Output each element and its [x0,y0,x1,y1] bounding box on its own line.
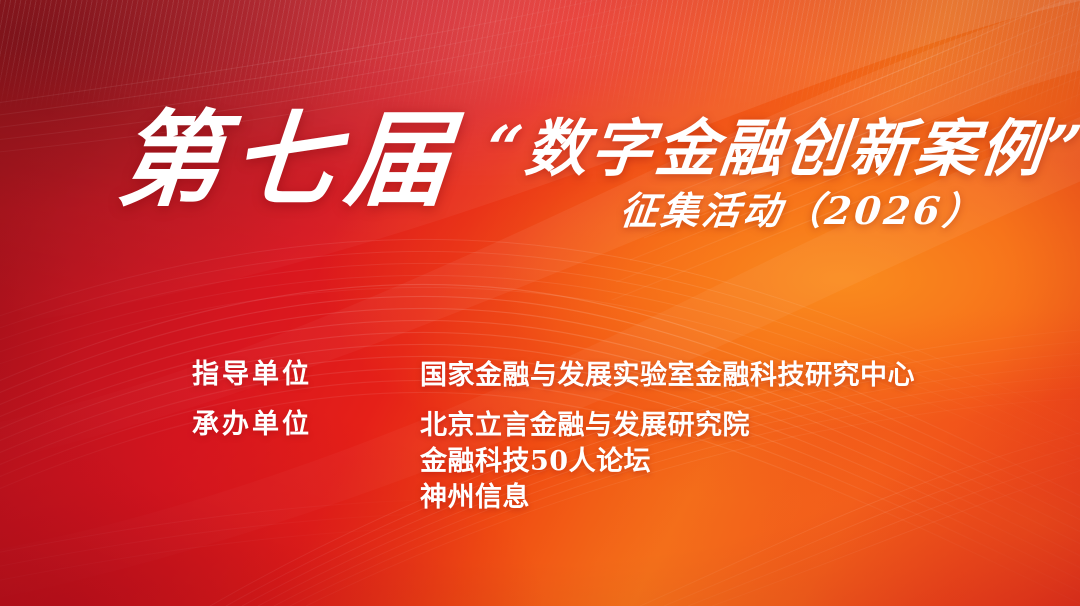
poster-canvas: 第七届 “数字金融创新案例” 征集活动（2026） 指导单位 国家金融与发展实验… [0,0,1080,606]
background-diagonal-hatch-band [0,0,1080,112]
credit-row-organizers: 承办单位 北京立言金融与发展研究院 金融科技50人论坛 神州信息 [192,408,1022,516]
headline-edition: 第七届 [113,108,464,212]
credit-values-guidance: 国家金融与发展实验室金融科技研究中心 [420,358,1022,394]
headline-subtitle-year: 征集活动（2026） [618,192,986,230]
credit-label-organizers: 承办单位 [192,408,420,441]
credit-values-organizers: 北京立言金融与发展研究院 金融科技50人论坛 神州信息 [420,408,1022,516]
credits-block: 指导单位 国家金融与发展实验室金融科技研究中心 承办单位 北京立言金融与发展研究… [192,358,1022,530]
credit-organization: 神州信息 [420,480,1022,516]
credit-organization: 北京立言金融与发展研究院 [420,408,1022,444]
credit-organization: 国家金融与发展实验室金融科技研究中心 [420,358,1022,394]
headline-theme-quoted: “数字金融创新案例” [484,118,1080,180]
credit-organization: 金融科技50人论坛 [420,444,1022,480]
credit-label-guidance: 指导单位 [192,358,420,391]
credit-row-guidance: 指导单位 国家金融与发展实验室金融科技研究中心 [192,358,1022,394]
